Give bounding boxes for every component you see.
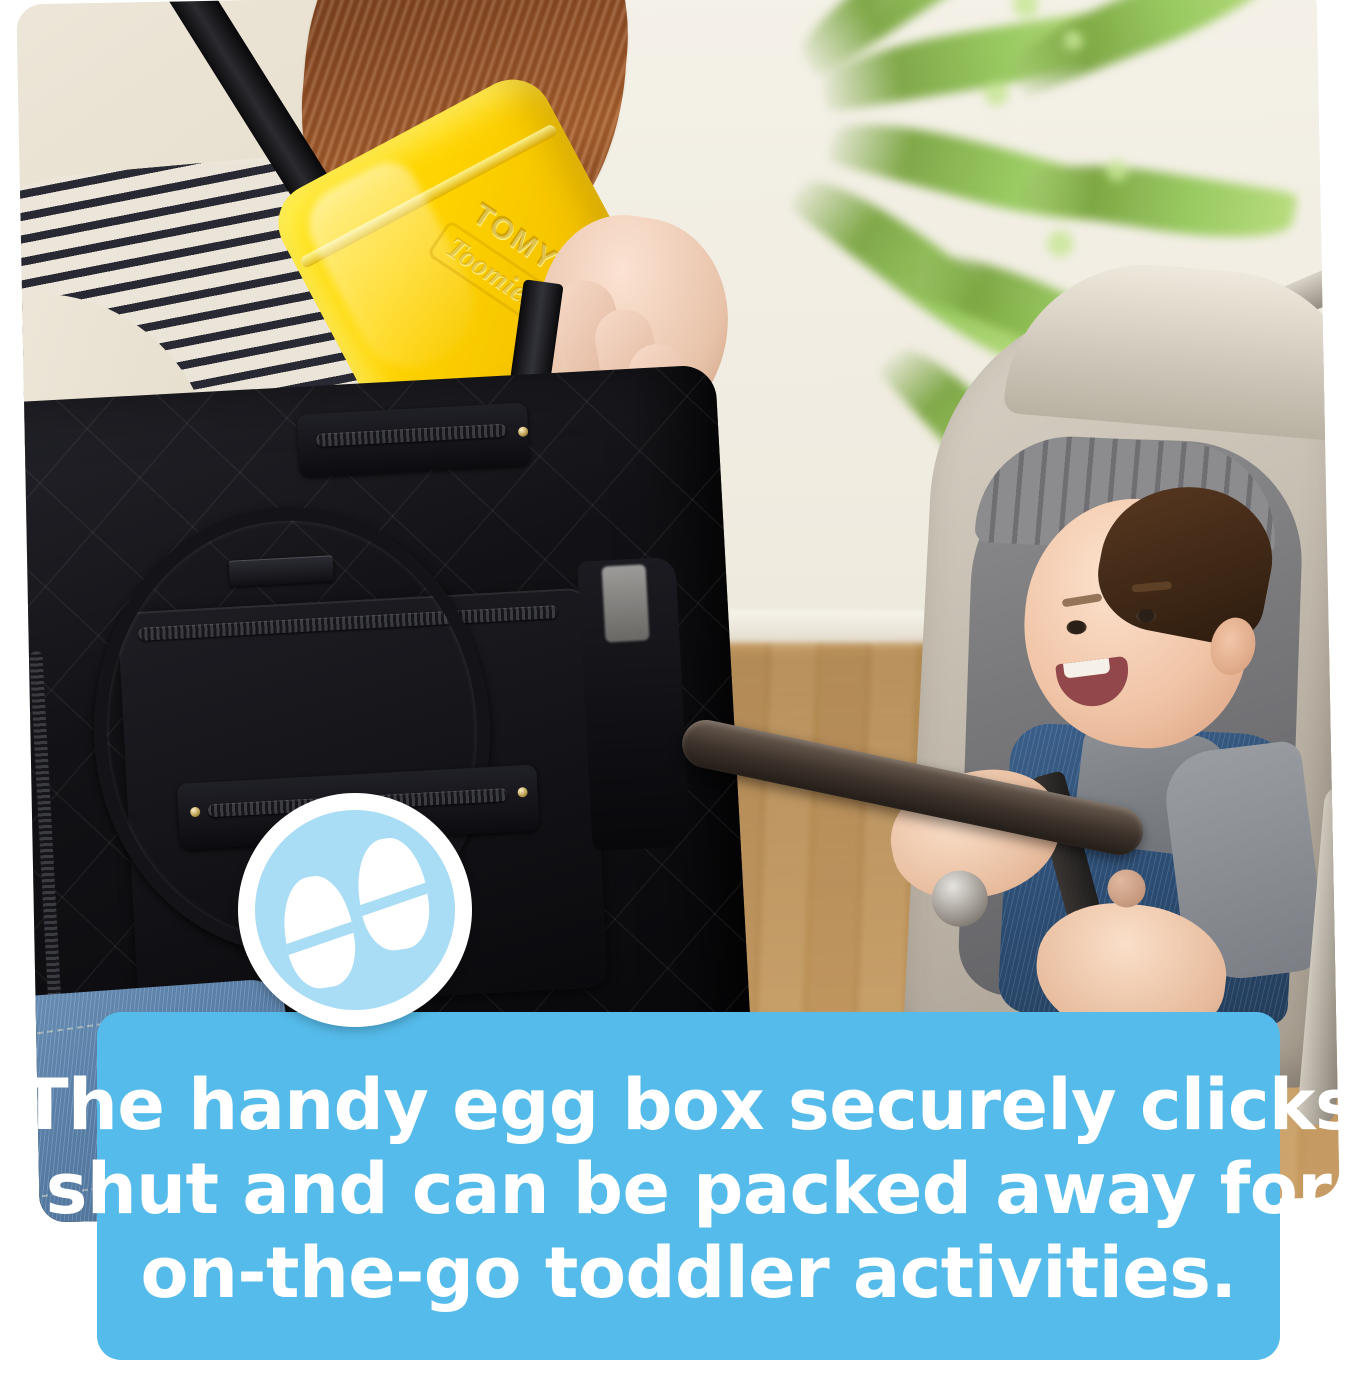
footprint-split — [277, 918, 362, 959]
product-feature-card: TOMY Toomies — [0, 0, 1370, 1382]
caption-line-3: on-the-go toddler activities. — [141, 1231, 1237, 1315]
footprint-left-icon — [277, 871, 362, 992]
toddler-footsteps-badge — [238, 793, 472, 1027]
badge-inner-circle — [255, 810, 455, 1010]
footprint-right-icon — [351, 833, 436, 954]
caption-line-1: The handy egg box securely clicks — [21, 1063, 1356, 1147]
footprint-split — [351, 879, 436, 920]
caption-line-2: shut and can be packed away for — [46, 1147, 1332, 1231]
bag-pocket-lining — [602, 564, 650, 642]
caption-banner: The handy egg box securely clicks shut a… — [97, 1012, 1280, 1360]
